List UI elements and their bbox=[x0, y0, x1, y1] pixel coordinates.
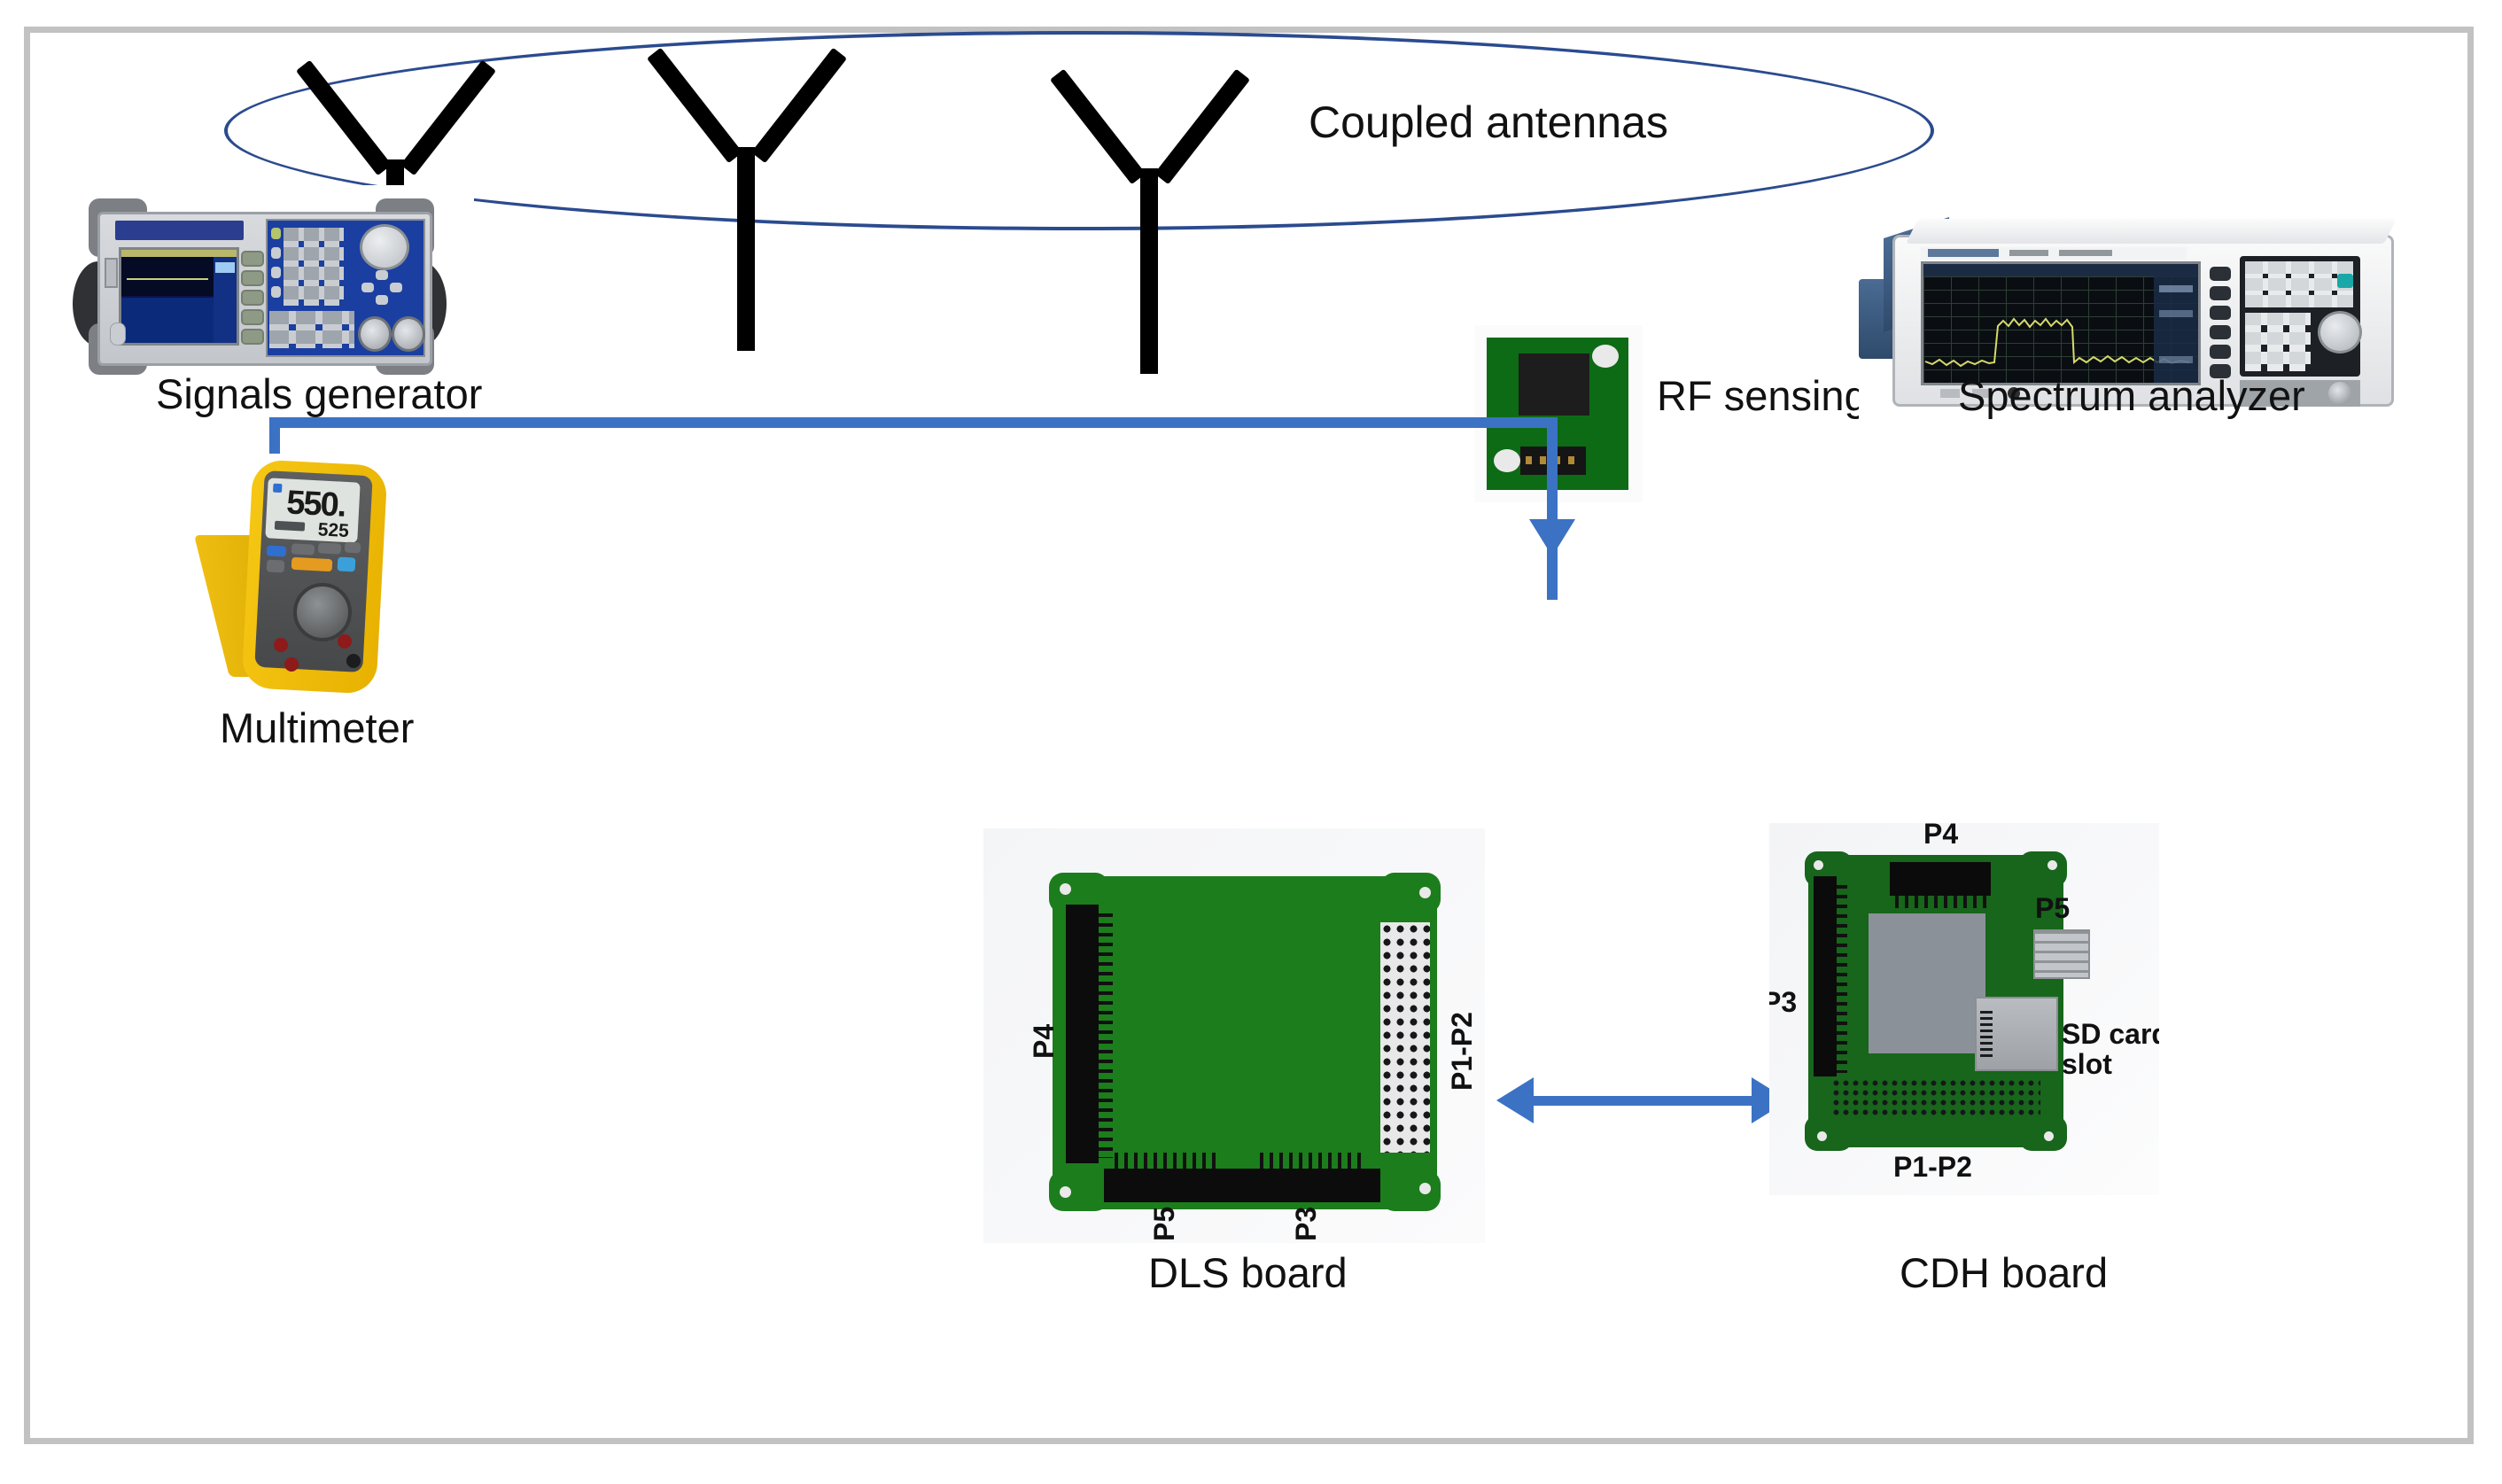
cdh-connector-p4-label: P4 bbox=[1923, 823, 1958, 850]
arrowhead-dls-left bbox=[1496, 1077, 1534, 1123]
multimeter-primary-reading: 550. bbox=[285, 486, 346, 522]
cdh-connector-p3-label: P3 bbox=[1769, 988, 1797, 1018]
spectrum-analyzer-caption: Spectrum analyzer bbox=[1958, 374, 2305, 417]
multimeter-secondary-reading: 525 bbox=[317, 519, 349, 542]
multimeter-caption: Multimeter bbox=[220, 706, 414, 750]
connector-dls-cdh bbox=[1534, 1096, 1752, 1106]
dls-connector-p3-label: P3 bbox=[1292, 1207, 1322, 1241]
cdh-sd-card-slot-label: SD card slot bbox=[2062, 1020, 2159, 1079]
cdh-connector-p1p2-label: P1-P2 bbox=[1893, 1153, 1972, 1183]
rf-sensing-board-image bbox=[1474, 325, 1643, 502]
dls-board-caption: DLS board bbox=[1148, 1251, 1348, 1294]
dls-connector-p4-label: P4 bbox=[1030, 1024, 1060, 1059]
signal-generator-image bbox=[43, 185, 474, 392]
multimeter-image: 550. 525 bbox=[185, 454, 429, 702]
dls-connector-p1p2-label: P1-P2 bbox=[1448, 1012, 1478, 1091]
cdh-board-image: P4 P3 P5 P1-P2 SD card slot bbox=[1769, 823, 2159, 1195]
connector-to-dls bbox=[1547, 417, 1558, 519]
antenna-icon-center bbox=[641, 54, 845, 231]
connector-branch-horizontal bbox=[269, 417, 1558, 428]
dls-board-image: P4 P1-P2 P5 P3 bbox=[983, 828, 1485, 1243]
arrowhead-dls bbox=[1529, 519, 1575, 556]
antenna-icon-right bbox=[1045, 75, 1248, 253]
cdh-board-caption: CDH board bbox=[1900, 1251, 2108, 1294]
dls-connector-p5-label: P5 bbox=[1150, 1207, 1180, 1241]
cdh-connector-p5-label: P5 bbox=[2035, 894, 2070, 924]
coupled-antennas-label: Coupled antennas bbox=[1309, 99, 1668, 146]
diagram-frame: Coupled antennas bbox=[24, 27, 2474, 1444]
diagram-canvas: Coupled antennas bbox=[0, 0, 2502, 1484]
signal-generator-caption: Signals generator bbox=[156, 372, 482, 416]
